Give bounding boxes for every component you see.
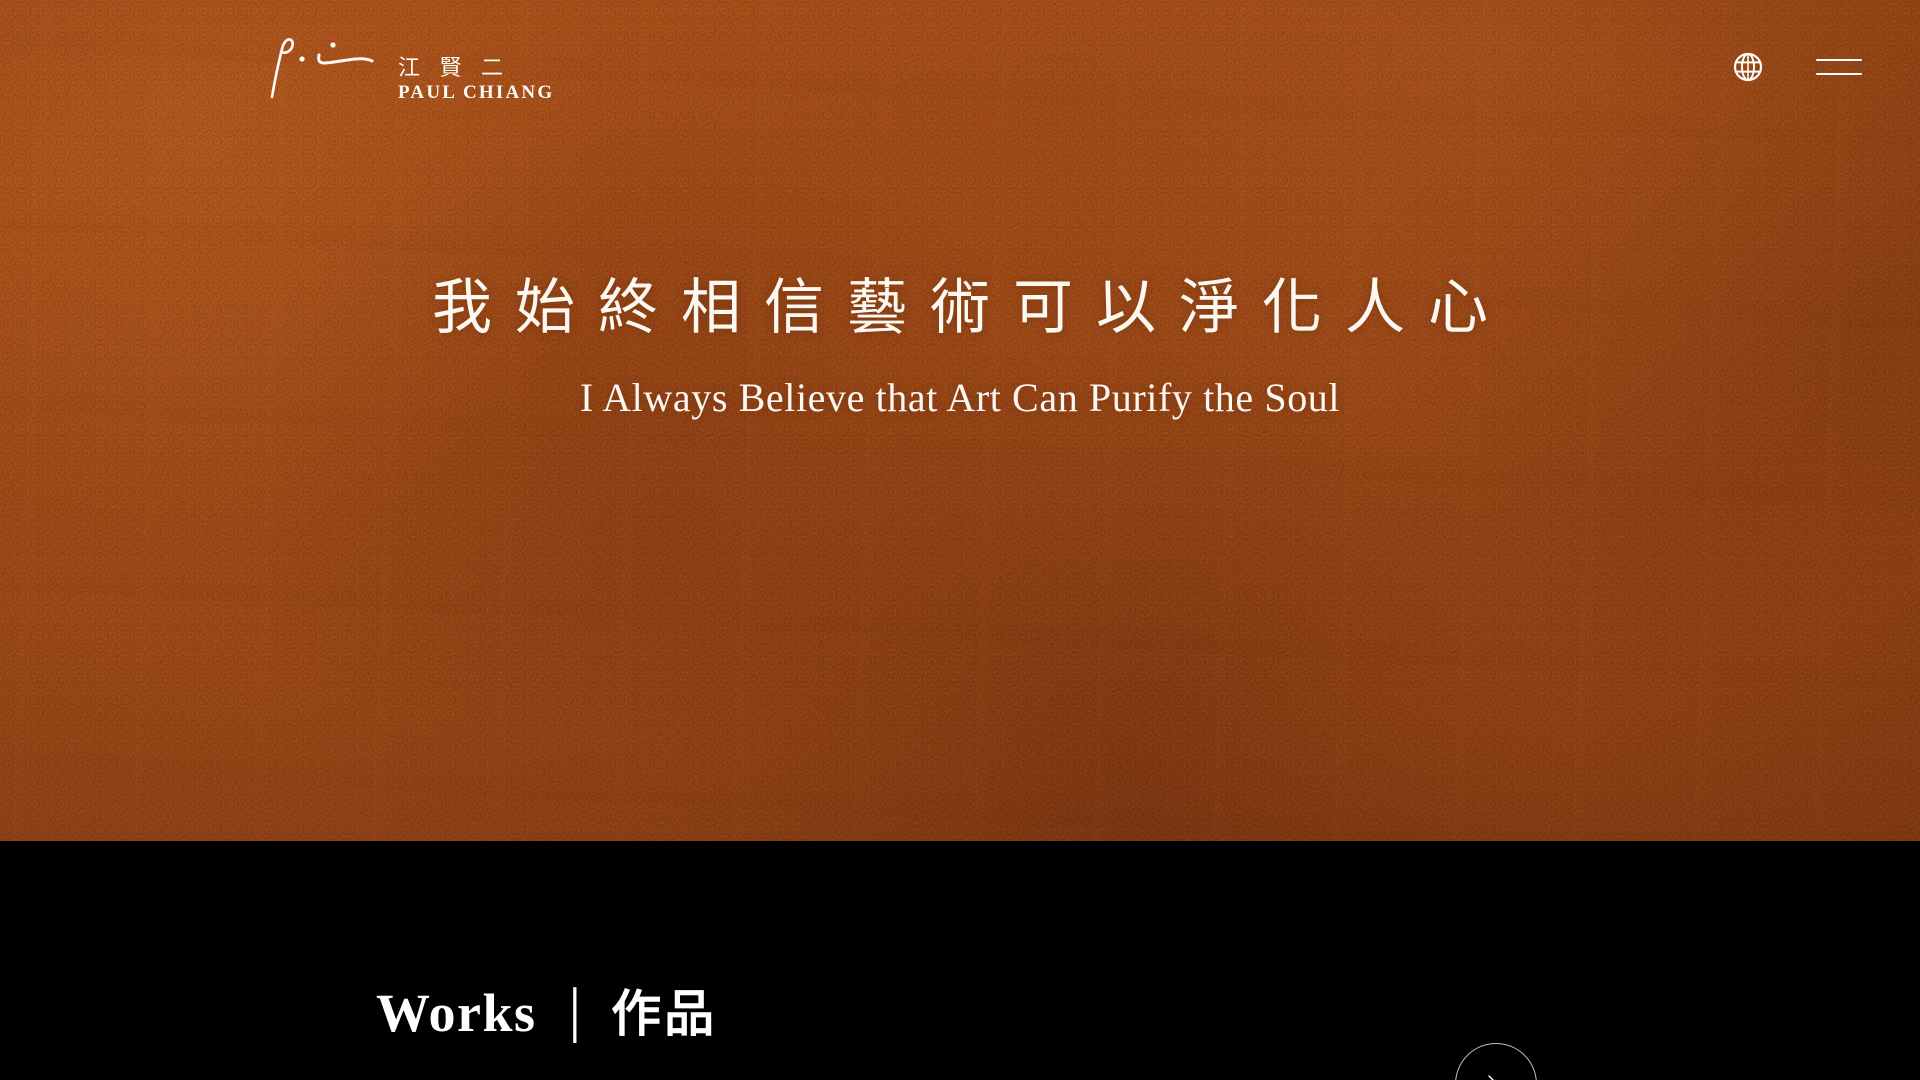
- brand-logo-link[interactable]: 江 賢 二 PAUL CHIANG: [258, 31, 554, 108]
- works-title-en: Works: [376, 986, 537, 1040]
- globe-icon: [1732, 51, 1764, 83]
- arrow-down-right-icon: [1476, 1063, 1516, 1080]
- header-tools: [1732, 51, 1862, 83]
- brand-name-cn: 江 賢 二: [398, 56, 510, 80]
- works-title-separator: │: [559, 991, 592, 1037]
- works-title-cn: 作品: [611, 989, 717, 1039]
- hamburger-menu-icon: [1816, 54, 1862, 80]
- hamburger-line-top: [1816, 59, 1862, 61]
- brand-name-group: 江 賢 二 PAUL CHIANG: [398, 56, 554, 107]
- page-root: 江 賢 二 PAUL CHIANG: [0, 0, 1920, 1080]
- language-switch-button[interactable]: [1732, 51, 1764, 83]
- paul-chiang-signature-icon: [258, 31, 376, 108]
- works-heading: Works │ 作品: [376, 986, 717, 1040]
- brand-name-en: PAUL CHIANG: [398, 83, 554, 104]
- menu-button[interactable]: [1816, 54, 1862, 80]
- hamburger-line-bottom: [1816, 73, 1862, 75]
- site-header: 江 賢 二 PAUL CHIANG: [0, 0, 1920, 132]
- works-section: [0, 841, 1920, 1080]
